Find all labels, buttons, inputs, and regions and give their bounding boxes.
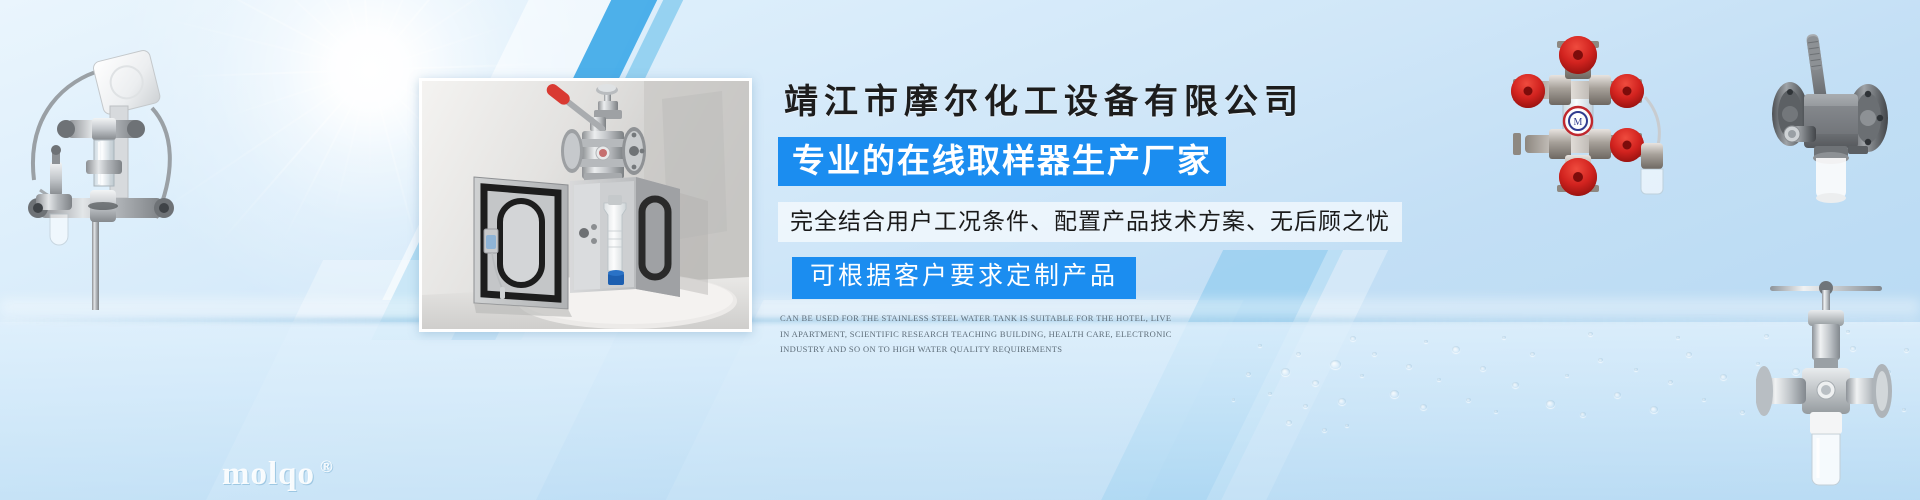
inline-bottle-sampling-valve-icon	[1756, 276, 1906, 496]
brand-watermark-text: molqo	[222, 456, 315, 492]
pipeline-sampler-with-float-probe-icon	[6, 22, 186, 312]
subheadline-banner: 完全结合用户工况条件、配置产品技术方案、无后顾之忧	[778, 202, 1402, 242]
cross-type-sampler-red-handwheels-icon: M	[1505, 25, 1695, 200]
company-name: 靖江市摩尔化工设备有限公司	[784, 74, 1398, 123]
lever-handle-flanged-sampling-valve-icon	[1764, 28, 1904, 218]
english-description: CAN BE USED FOR THE STAINLESS STEEL WATE…	[780, 311, 1180, 358]
product-photo-sampler-cabinet	[419, 78, 752, 332]
headline-text-block: 靖江市摩尔化工设备有限公司 专业的在线取样器生产厂家 完全结合用户工况条件、配置…	[778, 74, 1398, 358]
promo-banner: 靖江市摩尔化工设备有限公司 专业的在线取样器生产厂家 完全结合用户工况条件、配置…	[0, 0, 1920, 500]
headline-banner: 专业的在线取样器生产厂家	[778, 137, 1226, 186]
brand-watermark: molqo®	[222, 456, 334, 493]
registered-trademark-symbol: ®	[320, 457, 334, 476]
svg-text:M: M	[1574, 117, 1583, 128]
tertiary-banner: 可根据客户要求定制产品	[792, 257, 1136, 299]
